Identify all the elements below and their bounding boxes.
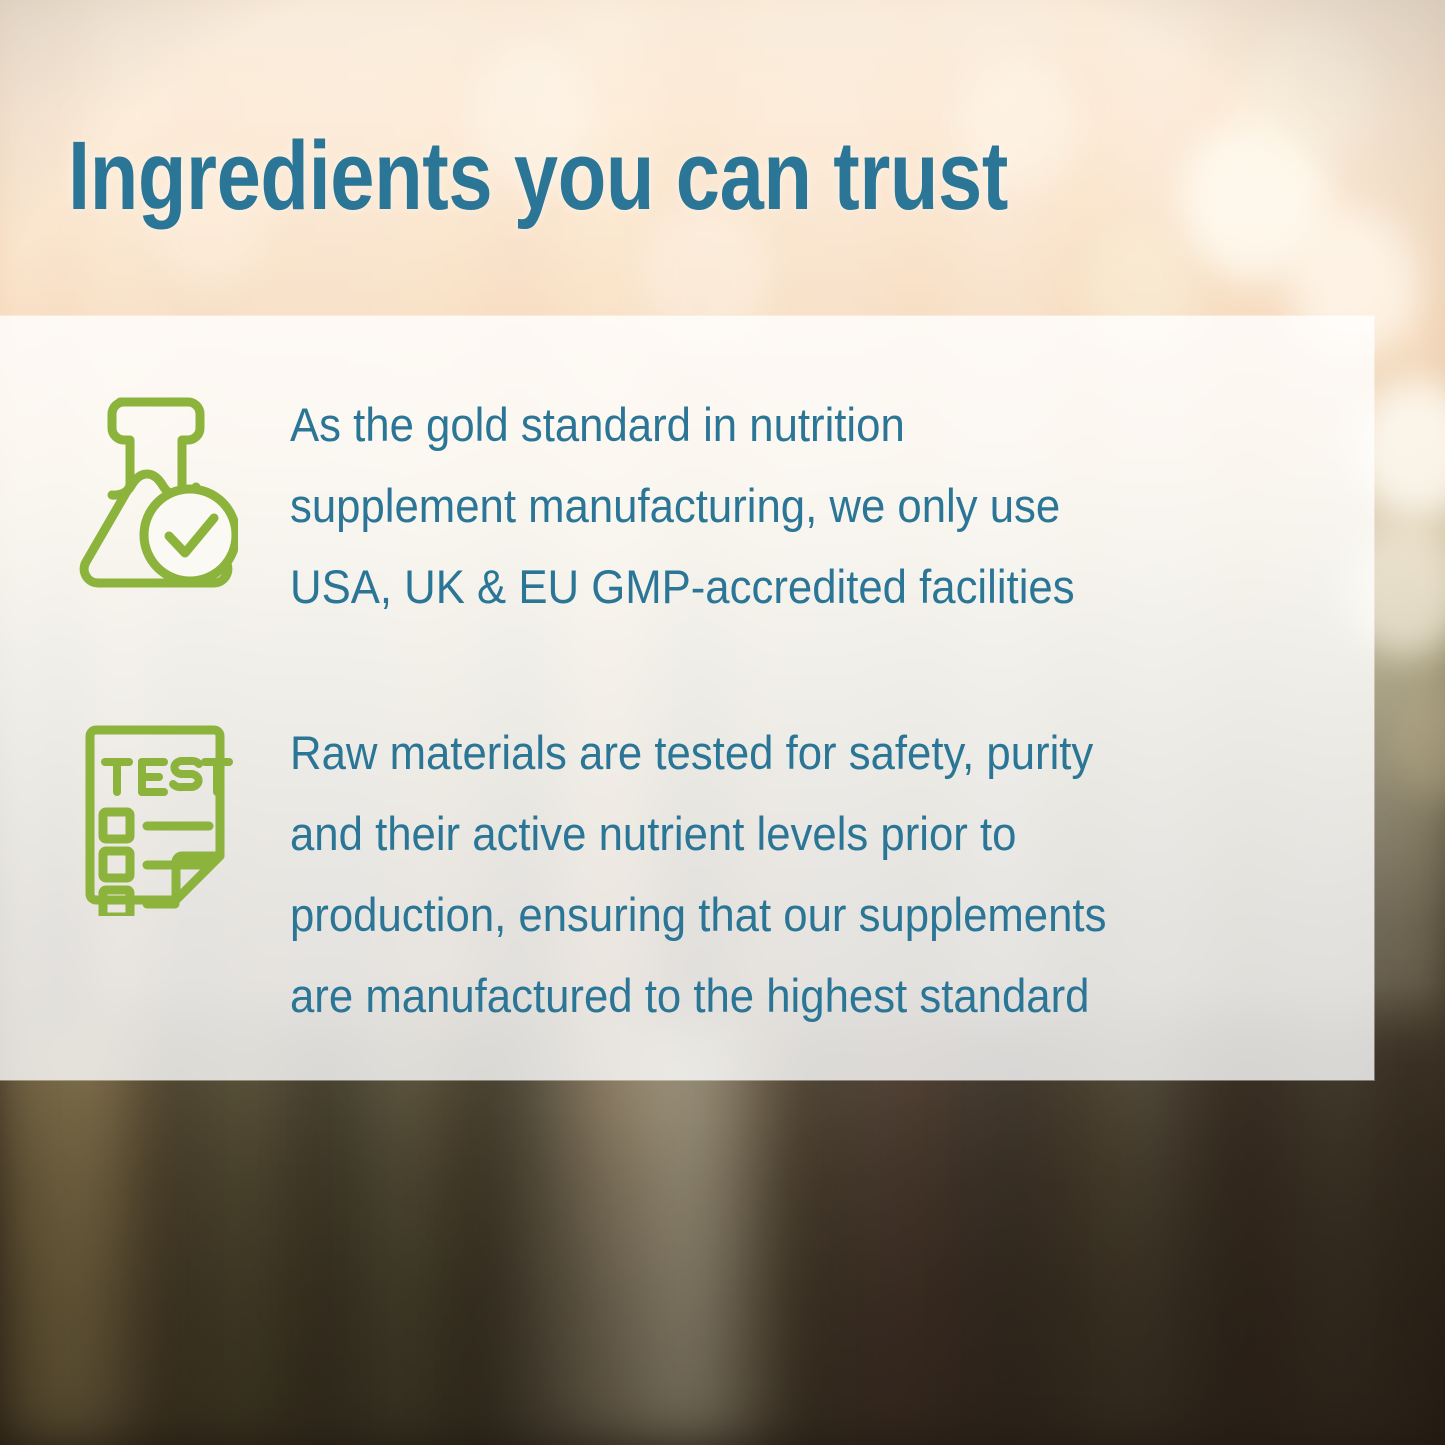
info-panel: As the gold standard in nutrition supple… [0, 316, 1374, 1080]
test-document-icon [72, 716, 238, 916]
info-row-text: Raw materials are tested for safety, pur… [290, 712, 1268, 1036]
info-row-line: As the gold standard in nutrition [290, 384, 1268, 465]
info-row-text: As the gold standard in nutrition supple… [290, 384, 1268, 627]
flask-check-icon [72, 388, 238, 588]
info-row-line: supplement manufacturing, we only use [290, 465, 1268, 546]
info-row: As the gold standard in nutrition supple… [72, 384, 1342, 627]
info-row-line: are manufactured to the highest standard [290, 955, 1268, 1036]
info-row-line: production, ensuring that our supplement… [290, 874, 1268, 955]
promo-graphic: Ingredients you can trust [0, 0, 1445, 1445]
background-grass-blades [0, 1020, 1445, 1445]
page-title: Ingredients you can trust [68, 127, 1008, 224]
info-row-line: and their active nutrient levels prior t… [290, 793, 1268, 874]
info-row-line: Raw materials are tested for safety, pur… [290, 712, 1268, 793]
info-row-line: USA, UK & EU GMP-accredited facilities [290, 546, 1268, 627]
info-panel-rows: As the gold standard in nutrition supple… [0, 316, 1374, 1080]
info-row: Raw materials are tested for safety, pur… [72, 712, 1342, 1036]
